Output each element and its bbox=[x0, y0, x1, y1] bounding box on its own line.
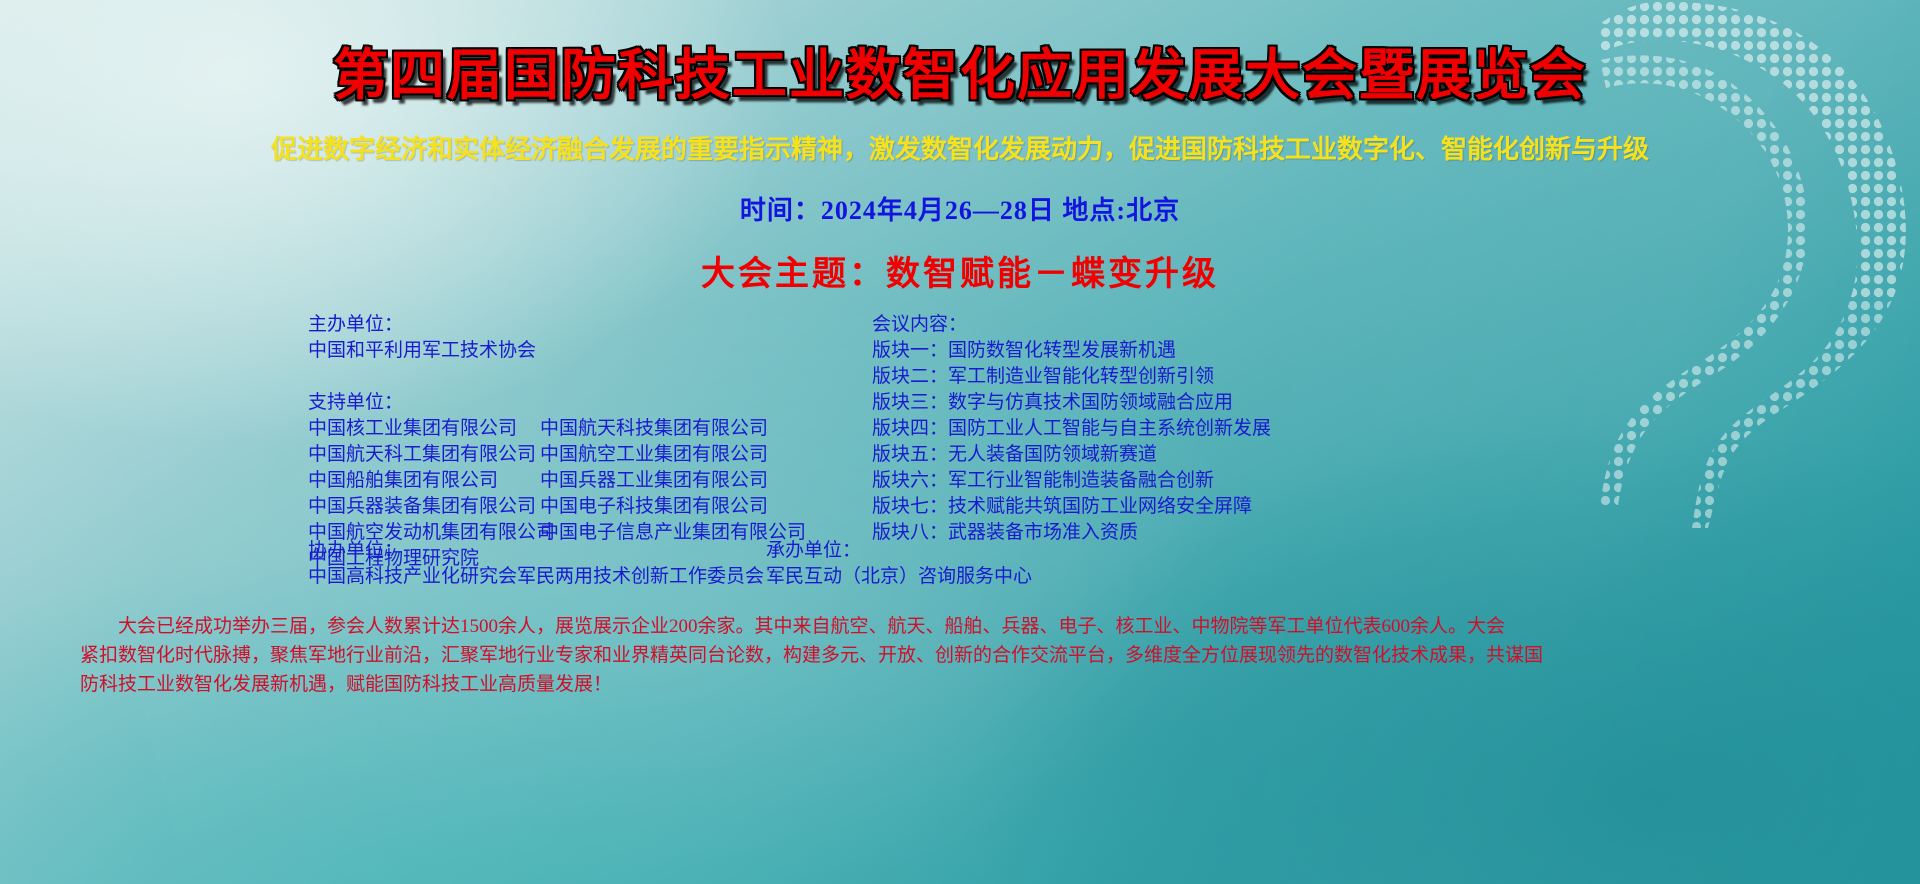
conference-poster: 第四届国防科技工业数智化应用发展大会暨展览会 促进数字经济和实体经济融合发展的重… bbox=[0, 0, 1920, 884]
footer-line-2: 紧扣数智化时代脉搏，聚焦军地行业前沿，汇聚军地行业专家和业界精英同台论数，构建多… bbox=[80, 641, 1840, 670]
support-unit-row: 中国核工业集团有限公司 中国航天科技集团有限公司 bbox=[308, 416, 828, 442]
agenda-label: 会议内容： bbox=[872, 312, 1512, 338]
organizers-spacer bbox=[308, 364, 828, 390]
support-unit-right: 中国航空工业集团有限公司 bbox=[540, 442, 768, 468]
event-datetime-location: 时间：2024年4月26—28日 地点:北京 bbox=[0, 190, 1920, 227]
support-unit-right: 中国航天科技集团有限公司 bbox=[540, 416, 768, 442]
agenda-section: 版块六：军工行业智能制造装备融合创新 bbox=[872, 468, 1512, 494]
agenda-section: 版块七：技术赋能共筑国防工业网络安全屏障 bbox=[872, 494, 1512, 520]
footer-line-3: 防科技工业数智化发展新机遇，赋能国防科技工业高质量发展！ bbox=[80, 670, 1840, 699]
coorganizer-undertaker-block: 协办单位： 承办单位： 中国高科技产业化研究会军民两用技术创新工作委员会 军民互… bbox=[308, 538, 1308, 590]
agenda-section: 版块一：国防数智化转型发展新机遇 bbox=[872, 338, 1512, 364]
poster-subtitle: 促进数字经济和实体经济融合发展的重要指示精神，激发数智化发展动力，促进国防科技工… bbox=[0, 129, 1920, 166]
support-unit-left: 中国船舶集团有限公司 bbox=[308, 468, 540, 494]
support-unit-right: 中国电子科技集团有限公司 bbox=[540, 494, 768, 520]
support-unit-row: 中国船舶集团有限公司 中国兵器工业集团有限公司 bbox=[308, 468, 828, 494]
conference-theme: 大会主题：数智赋能－蝶变升级 bbox=[0, 246, 1920, 295]
undertaker-label: 承办单位： bbox=[766, 538, 861, 564]
page-title: 第四届国防科技工业数智化应用发展大会暨展览会 bbox=[0, 30, 1920, 110]
host-name: 中国和平利用军工技术协会 bbox=[308, 338, 828, 364]
support-unit-row: 中国航天科工集团有限公司 中国航空工业集团有限公司 bbox=[308, 442, 828, 468]
support-label: 支持单位： bbox=[308, 390, 828, 416]
support-unit-row: 中国兵器装备集团有限公司 中国电子科技集团有限公司 bbox=[308, 494, 828, 520]
support-unit-left: 中国核工业集团有限公司 bbox=[308, 416, 540, 442]
coorganizer-name: 中国高科技产业化研究会军民两用技术创新工作委员会 bbox=[308, 564, 766, 590]
agenda-section: 版块三：数字与仿真技术国防领域融合应用 bbox=[872, 390, 1512, 416]
coorganizer-undertaker-names: 中国高科技产业化研究会军民两用技术创新工作委员会 军民互动（北京）咨询服务中心 bbox=[308, 564, 1308, 590]
organizers-column: 主办单位： 中国和平利用军工技术协会 支持单位： 中国核工业集团有限公司 中国航… bbox=[308, 312, 828, 572]
agenda-section: 版块四：国防工业人工智能与自主系统创新发展 bbox=[872, 416, 1512, 442]
agenda-column: 会议内容： 版块一：国防数智化转型发展新机遇 版块二：军工制造业智能化转型创新引… bbox=[872, 312, 1512, 546]
coorganizer-undertaker-labels: 协办单位： 承办单位： bbox=[308, 538, 1308, 564]
footer-line-1: 大会已经成功举办三届，参会人数累计达1500余人，展览展示企业200余家。其中来… bbox=[80, 612, 1840, 641]
support-unit-left: 中国兵器装备集团有限公司 bbox=[308, 494, 540, 520]
host-label: 主办单位： bbox=[308, 312, 828, 338]
support-unit-left: 中国航天科工集团有限公司 bbox=[308, 442, 540, 468]
footer-description: 大会已经成功举办三届，参会人数累计达1500余人，展览展示企业200余家。其中来… bbox=[80, 612, 1840, 699]
support-unit-right: 中国兵器工业集团有限公司 bbox=[540, 468, 768, 494]
coorganizer-label: 协办单位： bbox=[308, 538, 766, 564]
undertaker-name: 军民互动（北京）咨询服务中心 bbox=[766, 564, 1032, 590]
agenda-section: 版块二：军工制造业智能化转型创新引领 bbox=[872, 364, 1512, 390]
agenda-section: 版块五：无人装备国防领域新赛道 bbox=[872, 442, 1512, 468]
